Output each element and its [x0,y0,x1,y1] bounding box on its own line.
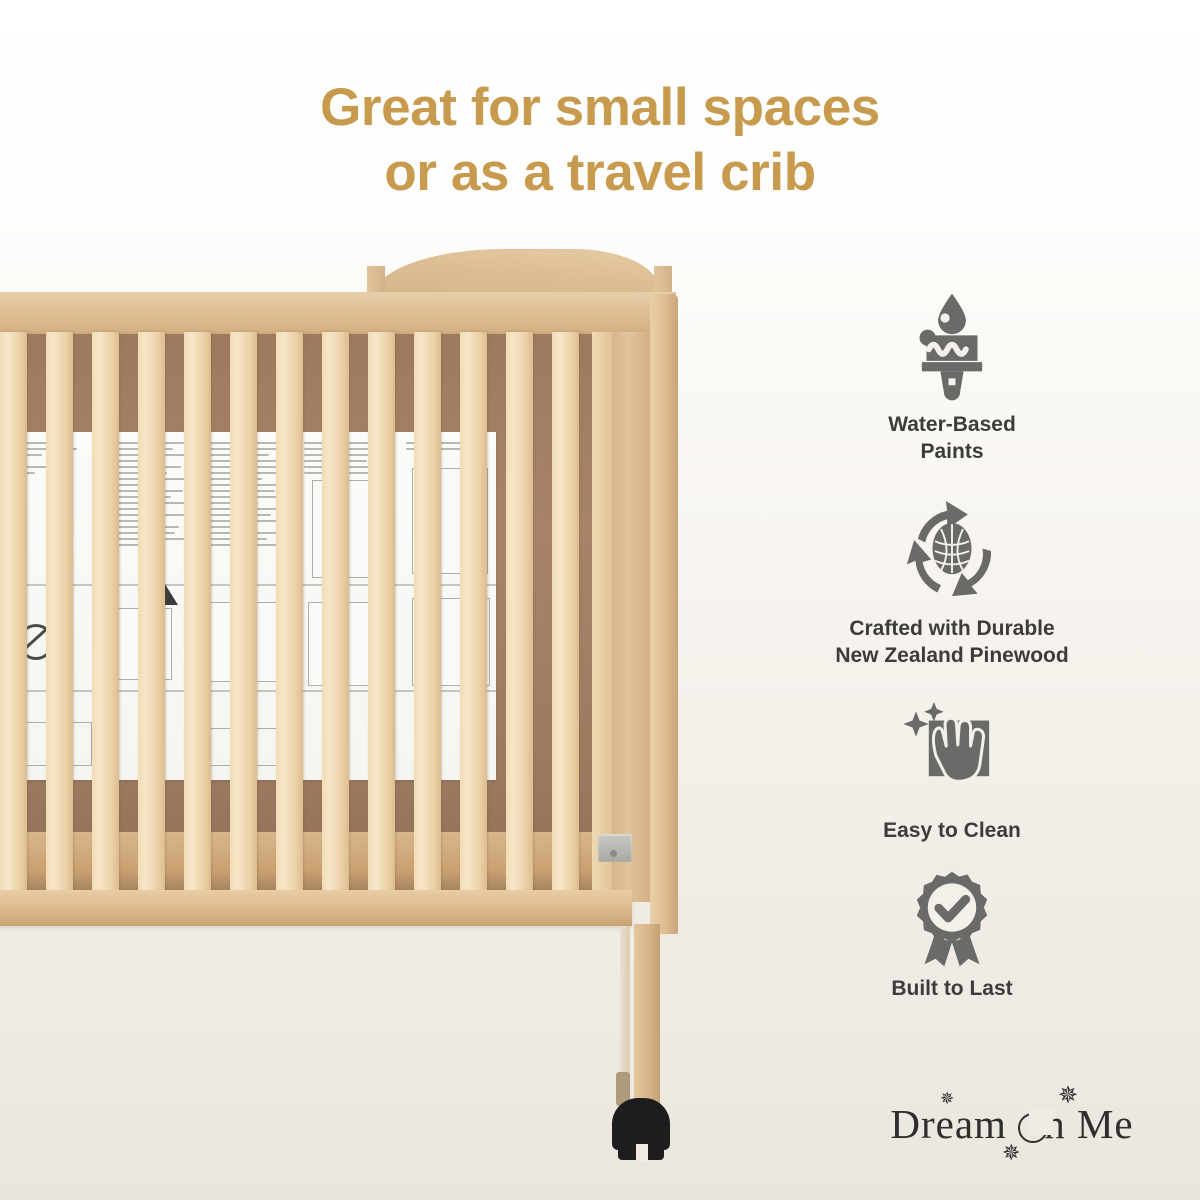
crib-leg-rod [620,926,630,1086]
product-photo [0,236,698,1176]
paint-brush-icon [742,288,1162,406]
award-ribbon-icon [742,866,1162,970]
brand-logo: ✵ ✵ ✵ Dream n Me [862,1082,1162,1168]
hand-wipe-icon [742,694,1162,812]
feature-label-built-to-last: Built to Last [742,976,1162,1003]
feature-label-water-based-paints: Water-Based Paints [742,412,1162,466]
crib-side-panel [612,332,654,902]
crib-leg [634,924,660,1112]
headline-line-2: or as a travel crib [0,141,1200,206]
brand-word-me: Me [1077,1101,1134,1147]
headline-line-1: Great for small spaces [0,76,1200,141]
headline: Great for small spaces or as a travel cr… [0,76,1200,205]
metal-bracket [598,834,632,862]
feature-item-easy-to-clean: Easy to Clean [742,694,1162,845]
feature-list: Water-Based Paints [742,288,1162,1003]
brand-name: Dream n Me [862,1100,1162,1148]
crib-bottom-rail [0,890,632,926]
feature-item-water-based-paints: Water-Based Paints [742,288,1162,466]
brand-word-dream: Dream [890,1101,1007,1147]
caster-notch [636,1144,648,1162]
product-marketing-image: Great for small spaces or as a travel cr… [0,0,1200,1200]
feature-label-pinewood: Crafted with Durable New Zealand Pinewoo… [742,616,1162,670]
pinecone-recycle-icon [742,492,1162,610]
feature-item-built-to-last: Built to Last [742,866,1162,1003]
feature-item-pinewood: Crafted with Durable New Zealand Pinewoo… [742,492,1162,670]
crib-corner-post [650,294,678,934]
crescent-moon-icon [1018,1112,1044,1142]
feature-label-easy-to-clean: Easy to Clean [742,818,1162,845]
crib-inner-stile [592,332,612,902]
